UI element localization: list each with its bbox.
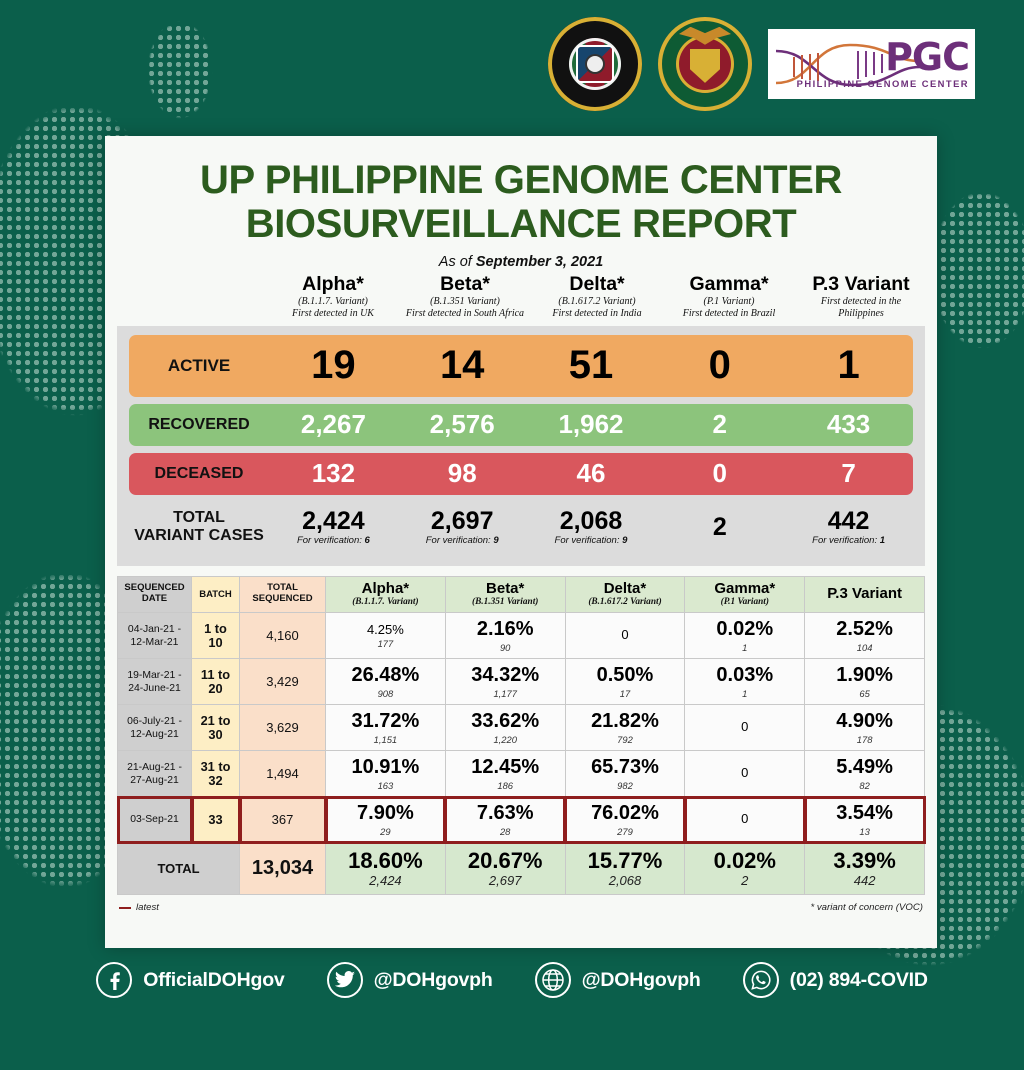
up-eagle-icon: [679, 27, 731, 45]
cell-delta: 0: [565, 613, 685, 659]
deceased-p3: 7: [784, 458, 913, 489]
cell-gamma: 0: [685, 705, 805, 751]
summary-row-label: ACTIVE: [129, 356, 269, 376]
recovered-gamma: 2: [655, 409, 784, 440]
cell-total-sequenced: 1,494: [240, 751, 326, 797]
pgc-acronym: PGC: [797, 39, 969, 75]
as-of-line: As of September 3, 2021: [105, 254, 937, 270]
cell-total-sequenced: 4,160: [240, 613, 326, 659]
total-cases-delta: 2,068 For verification: 9: [527, 508, 656, 546]
report-card: UP PHILIPPINE GENOME CENTER BIOSURVEILLA…: [105, 136, 937, 948]
header-total-sequenced: TOTAL SEQUENCED: [240, 576, 326, 613]
total-cases-value: 442: [784, 508, 913, 534]
variant-origin: First detected in UK: [269, 308, 397, 320]
variant-name: Alpha*: [269, 274, 397, 296]
cell-delta: 21.82%792: [565, 705, 685, 751]
summary-row-label: DECEASED: [129, 465, 269, 483]
table-row: 21-Aug-21 - 27-Aug-21 31 to 32 1,494 10.…: [118, 751, 925, 797]
page-title: UP PHILIPPINE GENOME CENTER BIOSURVEILLA…: [105, 136, 937, 246]
social-handle[interactable]: @DOHgovph: [582, 969, 701, 992]
for-verification-delta: For verification: 9: [527, 535, 656, 546]
cell-sequenced-date: 06-July-21 - 12-Aug-21: [118, 705, 192, 751]
cell-total-beta: 20.67%2,697: [445, 843, 565, 895]
active-gamma: 0: [655, 343, 784, 388]
legend-latest: latest: [119, 902, 159, 913]
globe-icon[interactable]: [535, 962, 571, 998]
facebook-icon[interactable]: [96, 962, 132, 998]
title-line-1: UP PHILIPPINE GENOME CENTER: [200, 158, 842, 202]
variant-name: Beta*: [401, 274, 529, 296]
variant-header-gamma: Gamma* (P.1 Variant) First detected in B…: [663, 274, 795, 320]
summary-row-total-variant-cases: TOTAL VARIANT CASES 2,424 For verificati…: [129, 499, 913, 555]
variant-lineage: (B.1.617.2 Variant): [533, 296, 661, 308]
latest-marker-icon: [119, 907, 131, 910]
social-footer: OfficialDOHgov @DOHgovph @DOHgovph (02) …: [0, 962, 1024, 998]
variant-name: Delta*: [533, 274, 661, 296]
cell-sequenced-date: 21-Aug-21 - 27-Aug-21: [118, 751, 192, 797]
cell-total-sequenced: 3,429: [240, 659, 326, 705]
social-twitter[interactable]: @DOHgovph: [327, 962, 493, 998]
cell-total-sequenced: 367: [240, 797, 326, 843]
variant-lineage: (P.1 Variant): [665, 296, 793, 308]
cell-alpha: 4.25%177: [326, 613, 446, 659]
cell-gamma: 0: [685, 751, 805, 797]
summary-row-active: ACTIVE 19 14 51 0 1: [129, 335, 913, 397]
recovered-delta: 1,962: [527, 409, 656, 440]
cell-total-delta: 15.77%2,068: [565, 843, 685, 895]
cell-beta: 2.16%90: [445, 613, 565, 659]
cell-delta: 65.73%982: [565, 751, 685, 797]
header-variant-beta: Beta* (B.1.351 Variant): [445, 576, 565, 613]
up-seal-icon: [658, 17, 752, 111]
for-verification-alpha: For verification: 6: [269, 535, 398, 546]
recovered-p3: 433: [784, 409, 913, 440]
recovered-beta: 2,576: [398, 409, 527, 440]
table-row: 04-Jan-21 - 12-Mar-21 1 to 10 4,160 4.25…: [118, 613, 925, 659]
summary-row-label: RECOVERED: [129, 416, 269, 434]
variant-origin: First detected in South Africa: [401, 308, 529, 320]
cell-batch: 33: [192, 797, 240, 843]
variant-header-alpha: Alpha* (B.1.1.7. Variant) First detected…: [267, 274, 399, 320]
detail-header-row: SEQUENCED DATE BATCH TOTAL SEQUENCED Alp…: [118, 576, 925, 613]
summary-block: ACTIVE 19 14 51 0 1 RECOVERED 2,267 2,57…: [117, 326, 925, 566]
whatsapp-icon[interactable]: [743, 962, 779, 998]
deceased-delta: 46: [527, 458, 656, 489]
total-cases-value: 2: [655, 514, 784, 540]
twitter-icon[interactable]: [327, 962, 363, 998]
header-sequenced-date: SEQUENCED DATE: [118, 576, 192, 613]
variant-origin: First detected in India: [533, 308, 661, 320]
cell-alpha: 10.91%163: [326, 751, 446, 797]
total-cases-value: 2,697: [398, 508, 527, 534]
cell-beta: 33.62%1,220: [445, 705, 565, 751]
social-handle[interactable]: OfficialDOHgov: [143, 969, 284, 992]
cell-beta: 34.32%1,177: [445, 659, 565, 705]
as-of-date: September 3, 2021: [476, 254, 603, 270]
cell-batch: 21 to 30: [192, 705, 240, 751]
total-cases-value: 2,424: [269, 508, 398, 534]
summary-total-label-line2: VARIANT CASES: [129, 527, 269, 545]
cell-total-sequenced-grand: 13,034: [240, 843, 326, 895]
doh-seal-icon: [548, 17, 642, 111]
cell-total-alpha: 18.60%2,424: [326, 843, 446, 895]
deceased-alpha: 132: [269, 458, 398, 489]
cell-p3: 2.52%104: [805, 613, 925, 659]
cell-gamma: 0.03%1: [685, 659, 805, 705]
header-batch: BATCH: [192, 576, 240, 613]
cell-p3: 4.90%178: [805, 705, 925, 751]
cell-total-sequenced: 3,629: [240, 705, 326, 751]
social-handle[interactable]: @DOHgovph: [374, 969, 493, 992]
cell-alpha: 31.72%1,151: [326, 705, 446, 751]
table-row-total: TOTAL 13,034 18.60%2,424 20.67%2,697 15.…: [118, 843, 925, 895]
recovered-alpha: 2,267: [269, 409, 398, 440]
variant-header-beta: Beta* (B.1.351 Variant) First detected i…: [399, 274, 531, 320]
cell-sequenced-date: 04-Jan-21 - 12-Mar-21: [118, 613, 192, 659]
table-row: 19-Mar-21 - 24-June-21 11 to 20 3,429 26…: [118, 659, 925, 705]
sequencing-detail-table: SEQUENCED DATE BATCH TOTAL SEQUENCED Alp…: [117, 576, 925, 896]
doh-crest-icon: [578, 47, 612, 81]
cell-p3: 5.49%82: [805, 751, 925, 797]
cell-beta: 12.45%186: [445, 751, 565, 797]
card-footnotes: latest * variant of concern (VOC): [119, 902, 923, 913]
pgc-full-name: PHILIPPINE GENOME CENTER: [797, 78, 969, 89]
variant-header-strip: Alpha* (B.1.1.7. Variant) First detected…: [105, 270, 937, 320]
variant-lineage: (B.1.1.7. Variant): [269, 296, 397, 308]
latest-label: latest: [136, 902, 159, 913]
cell-p3: 3.54%13: [805, 797, 925, 843]
for-verification-p3: For verification: 1: [784, 535, 913, 546]
variant-origin: First detected in the Philippines: [797, 296, 925, 320]
active-beta: 14: [398, 343, 527, 388]
table-row-latest: 03-Sep-21 33 367 7.90%29 7.63%28 76.02%2…: [118, 797, 925, 843]
active-p3: 1: [784, 343, 913, 388]
cell-delta: 0.50%17: [565, 659, 685, 705]
active-alpha: 19: [269, 343, 398, 388]
summary-total-label: TOTAL VARIANT CASES: [129, 509, 269, 545]
up-shield-icon: [690, 49, 720, 83]
deceased-gamma: 0: [655, 458, 784, 489]
cell-total-label: TOTAL: [118, 843, 240, 895]
variant-origin: First detected in Brazil: [665, 308, 793, 320]
total-cases-p3: 442 For verification: 1: [784, 508, 913, 546]
summary-total-label-line1: TOTAL: [129, 509, 269, 527]
cell-gamma: 0.02%1: [685, 613, 805, 659]
social-handle[interactable]: (02) 894-COVID: [790, 969, 928, 992]
title-line-2: BIOSURVEILLANCE REPORT: [105, 202, 937, 246]
total-cases-value: 2,068: [527, 508, 656, 534]
for-verification-beta: For verification: 9: [398, 535, 527, 546]
cell-alpha: 26.48%908: [326, 659, 446, 705]
variant-header-p3: P.3 Variant First detected in the Philip…: [795, 274, 927, 320]
cell-delta: 76.02%279: [565, 797, 685, 843]
cell-total-gamma: 0.02%2: [685, 843, 805, 895]
logo-bar: PGC PHILIPPINE GENOME CENTER: [548, 14, 975, 114]
cell-batch: 11 to 20: [192, 659, 240, 705]
social-facebook[interactable]: OfficialDOHgov: [96, 962, 284, 998]
cell-total-p3: 3.39%442: [805, 843, 925, 895]
header-variant-alpha: Alpha* (B.1.1.7. Variant): [326, 576, 446, 613]
social-website[interactable]: @DOHgovph: [535, 962, 701, 998]
variant-name: P.3 Variant: [797, 274, 925, 296]
total-cases-alpha: 2,424 For verification: 6: [269, 508, 398, 546]
voc-footnote: * variant of concern (VOC): [810, 902, 923, 913]
summary-row-recovered: RECOVERED 2,267 2,576 1,962 2 433: [129, 404, 913, 446]
header-variant-p3: P.3 Variant: [805, 576, 925, 613]
cell-alpha: 7.90%29: [326, 797, 446, 843]
variant-lineage: (B.1.351 Variant): [401, 296, 529, 308]
table-row: 06-July-21 - 12-Aug-21 21 to 30 3,629 31…: [118, 705, 925, 751]
variant-name: Gamma*: [665, 274, 793, 296]
active-delta: 51: [527, 343, 656, 388]
cell-gamma: 0: [685, 797, 805, 843]
cell-p3: 1.90%65: [805, 659, 925, 705]
cell-beta: 7.63%28: [445, 797, 565, 843]
cell-sequenced-date: 19-Mar-21 - 24-June-21: [118, 659, 192, 705]
cell-batch: 31 to 32: [192, 751, 240, 797]
social-hotline[interactable]: (02) 894-COVID: [743, 962, 928, 998]
cell-batch: 1 to 10: [192, 613, 240, 659]
pgc-logo: PGC PHILIPPINE GENOME CENTER: [768, 29, 975, 99]
cell-sequenced-date: 03-Sep-21: [118, 797, 192, 843]
summary-row-deceased: DECEASED 132 98 46 0 7: [129, 453, 913, 495]
as-of-prefix: As of: [439, 254, 476, 270]
variant-header-spacer: [115, 274, 267, 320]
header-variant-gamma: Gamma* (P.1 Variant): [685, 576, 805, 613]
deceased-beta: 98: [398, 458, 527, 489]
total-cases-beta: 2,697 For verification: 9: [398, 508, 527, 546]
variant-header-delta: Delta* (B.1.617.2 Variant) First detecte…: [531, 274, 663, 320]
total-cases-gamma: 2: [655, 514, 784, 540]
header-variant-delta: Delta* (B.1.617.2 Variant): [565, 576, 685, 613]
